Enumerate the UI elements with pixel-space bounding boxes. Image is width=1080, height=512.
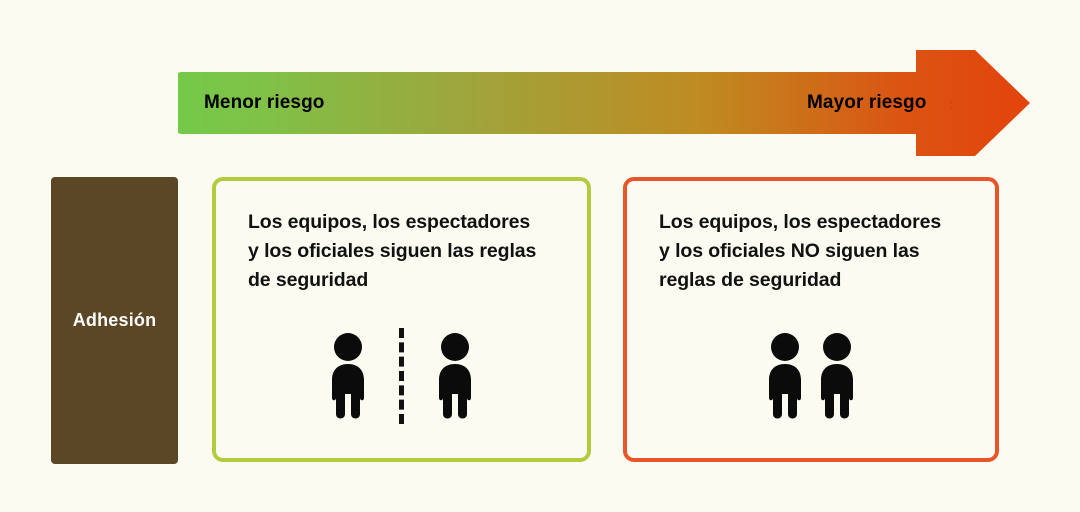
risk-label-higher-artifact: :	[949, 96, 954, 113]
category-label: Adhesión	[73, 310, 157, 331]
infographic-canvas: Menor riesgo Mayor riesgo : Adhesión Los…	[0, 0, 1080, 512]
risk-card-higher-text: Los equipos, los espectadores y los ofic…	[659, 208, 989, 295]
person-glyph	[432, 332, 478, 424]
risk-card-lower-text: Los equipos, los espectadores y los ofic…	[248, 208, 568, 295]
pictogram-group-adjacent	[627, 332, 995, 424]
person-icon	[814, 332, 860, 424]
category-block-adhesion: Adhesión	[51, 177, 178, 464]
pictogram-group-separated	[216, 328, 587, 424]
card-line: y los oficiales siguen las reglas	[248, 237, 568, 266]
card-line: Los equipos, los espectadores	[248, 208, 568, 237]
person-glyph	[762, 332, 808, 424]
dashed-divider-icon	[399, 328, 404, 424]
risk-card-lower: Los equipos, los espectadores y los ofic…	[212, 177, 591, 462]
person-glyph	[325, 332, 371, 424]
card-line: de seguridad	[248, 266, 568, 295]
card-line: reglas de seguridad	[659, 266, 989, 295]
person-icon	[432, 332, 478, 424]
card-line: Los equipos, los espectadores	[659, 208, 989, 237]
person-icon	[325, 332, 371, 424]
risk-label-lower: Menor riesgo	[204, 92, 325, 114]
person-icon	[762, 332, 808, 424]
card-line: y los oficiales NO siguen las	[659, 237, 989, 266]
person-glyph	[814, 332, 860, 424]
risk-label-higher: Mayor riesgo	[807, 92, 926, 114]
risk-card-higher: Los equipos, los espectadores y los ofic…	[623, 177, 999, 462]
